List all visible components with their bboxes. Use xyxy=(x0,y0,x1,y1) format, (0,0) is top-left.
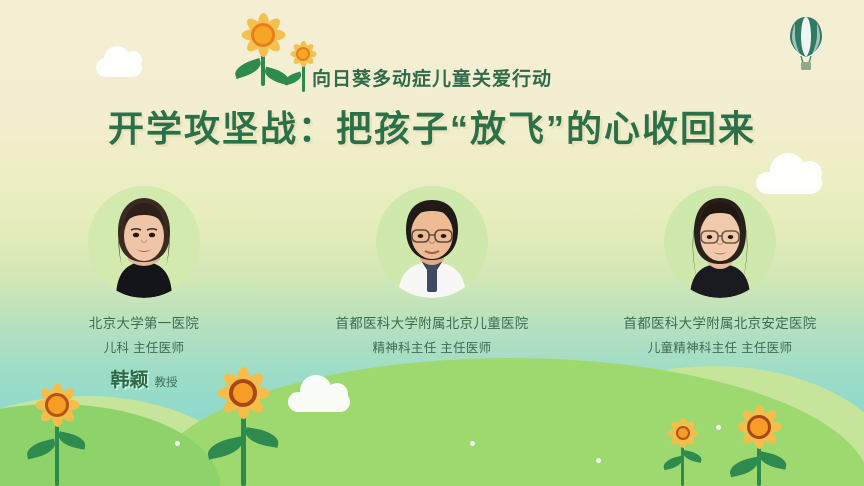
flower-speck xyxy=(470,441,475,446)
portrait-han-ying xyxy=(88,186,200,298)
poster-header: 向日葵多动症儿童关爱行动 开学攻坚战：把孩子“放飞”的心收回来 xyxy=(0,0,864,152)
sunflower-decoration-bottom-left xyxy=(22,372,92,486)
speaker-card-3: 首都医科大学附属北京安定医院 儿童精神科主任 主任医师 何凡 教授 xyxy=(580,186,860,392)
speaker-organization: 北京大学第一医院 xyxy=(4,312,284,332)
campaign-subtitle: 向日葵多动症儿童关爱行动 xyxy=(0,64,864,91)
flower-speck xyxy=(716,425,721,430)
sunflower-decoration-bottom-right-small xyxy=(660,412,706,486)
portrait-cui-yonghua xyxy=(376,186,488,298)
speaker-title: 教授 xyxy=(155,374,178,390)
speaker-name: 韩颖 xyxy=(110,365,148,392)
flower-speck xyxy=(596,458,601,463)
speaker-organization: 首都医科大学附属北京安定医院 xyxy=(580,312,860,332)
cloud-icon-center xyxy=(288,392,350,412)
sunflower-decoration-bottom-right-large xyxy=(725,398,793,486)
hot-air-balloon-icon xyxy=(784,14,828,74)
portrait-he-fan xyxy=(664,186,776,298)
flower-speck xyxy=(175,441,180,446)
speaker-role: 儿科 主任医师 xyxy=(4,337,284,356)
speaker-role: 精神科主任 主任医师 xyxy=(292,337,572,356)
page-title: 开学攻坚战：把孩子“放飞”的心收回来 xyxy=(0,100,864,152)
speaker-organization: 首都医科大学附属北京儿童医院 xyxy=(292,312,572,332)
speaker-role: 儿童精神科主任 主任医师 xyxy=(580,337,860,356)
poster-canvas: 向日葵多动症儿童关爱行动 开学攻坚战：把孩子“放飞”的心收回来 xyxy=(0,0,864,486)
sunflower-decoration-bottom-center xyxy=(205,358,281,486)
